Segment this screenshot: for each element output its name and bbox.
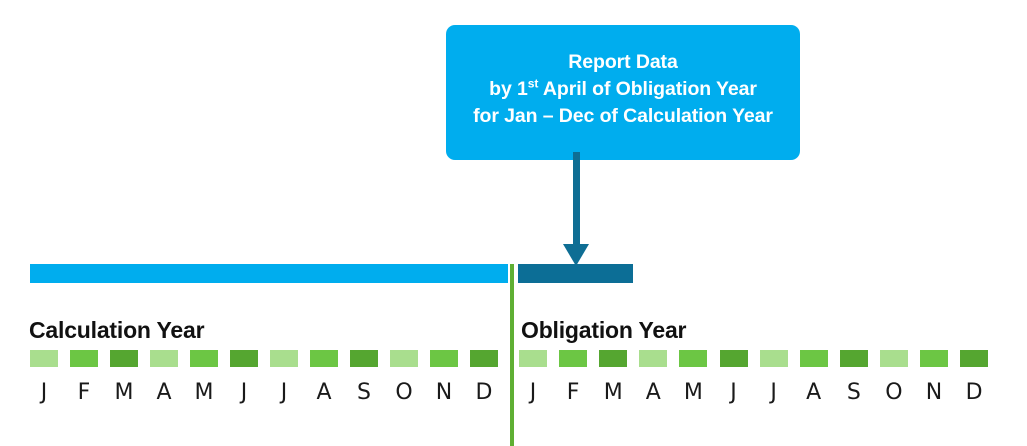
- month-swatch: [960, 350, 988, 367]
- month-swatch: [390, 350, 418, 367]
- month-swatch: [70, 350, 98, 367]
- month-swatch: [920, 350, 948, 367]
- arrow-shaft: [573, 152, 580, 246]
- month-swatch: [880, 350, 908, 367]
- month-label: A: [800, 380, 828, 405]
- month-label: J: [270, 380, 298, 405]
- month-swatch: [519, 350, 547, 367]
- callout-line-3: for Jan – Dec of Calculation Year: [473, 103, 773, 130]
- ordinal-suffix: st: [528, 77, 539, 91]
- diagram-canvas: Report Data by 1st April of Obligation Y…: [0, 0, 1027, 446]
- month-label: J: [760, 380, 788, 405]
- month-label: A: [310, 380, 338, 405]
- month-label-row: JFMAMJJASONDJFMAMJJASOND: [30, 380, 1000, 412]
- month-swatch: [430, 350, 458, 367]
- month-swatch: [110, 350, 138, 367]
- month-label: A: [150, 380, 178, 405]
- month-label: D: [470, 380, 498, 405]
- callout-line-1: Report Data: [568, 49, 677, 76]
- callout-line-2-post: April of Obligation Year: [538, 78, 757, 100]
- month-swatch: [639, 350, 667, 367]
- month-swatch: [559, 350, 587, 367]
- month-label: S: [840, 380, 868, 405]
- month-label: A: [639, 380, 667, 405]
- month-label: M: [599, 380, 627, 405]
- month-label: S: [350, 380, 378, 405]
- month-swatch: [760, 350, 788, 367]
- obligation-year-title: Obligation Year: [521, 317, 686, 344]
- month-swatch: [350, 350, 378, 367]
- month-swatch: [190, 350, 218, 367]
- month-swatch: [800, 350, 828, 367]
- month-swatch: [150, 350, 178, 367]
- callout-line-2: by 1st April of Obligation Year: [489, 76, 757, 103]
- month-swatch: [679, 350, 707, 367]
- month-swatch: [720, 350, 748, 367]
- month-label: O: [390, 380, 418, 405]
- month-label: N: [920, 380, 948, 405]
- month-label: J: [720, 380, 748, 405]
- obligation-year-bar: [518, 264, 633, 283]
- month-label: M: [110, 380, 138, 405]
- month-swatch-row: [30, 350, 1000, 367]
- month-label: D: [960, 380, 988, 405]
- month-label: J: [30, 380, 58, 405]
- callout-line-2-pre: by 1: [489, 78, 528, 100]
- month-swatch: [599, 350, 627, 367]
- month-swatch: [270, 350, 298, 367]
- month-label: F: [559, 380, 587, 405]
- month-swatch: [310, 350, 338, 367]
- month-label: M: [679, 380, 707, 405]
- month-swatch: [840, 350, 868, 367]
- month-label: N: [430, 380, 458, 405]
- month-swatch: [230, 350, 258, 367]
- report-data-callout: Report Data by 1st April of Obligation Y…: [446, 25, 800, 160]
- calculation-year-title: Calculation Year: [29, 317, 204, 344]
- month-swatch: [470, 350, 498, 367]
- month-label: J: [519, 380, 547, 405]
- month-label: J: [230, 380, 258, 405]
- month-label: M: [190, 380, 218, 405]
- month-label: F: [70, 380, 98, 405]
- month-swatch: [30, 350, 58, 367]
- month-label: O: [880, 380, 908, 405]
- down-arrow-icon: [563, 244, 589, 266]
- calculation-year-bar: [30, 264, 508, 283]
